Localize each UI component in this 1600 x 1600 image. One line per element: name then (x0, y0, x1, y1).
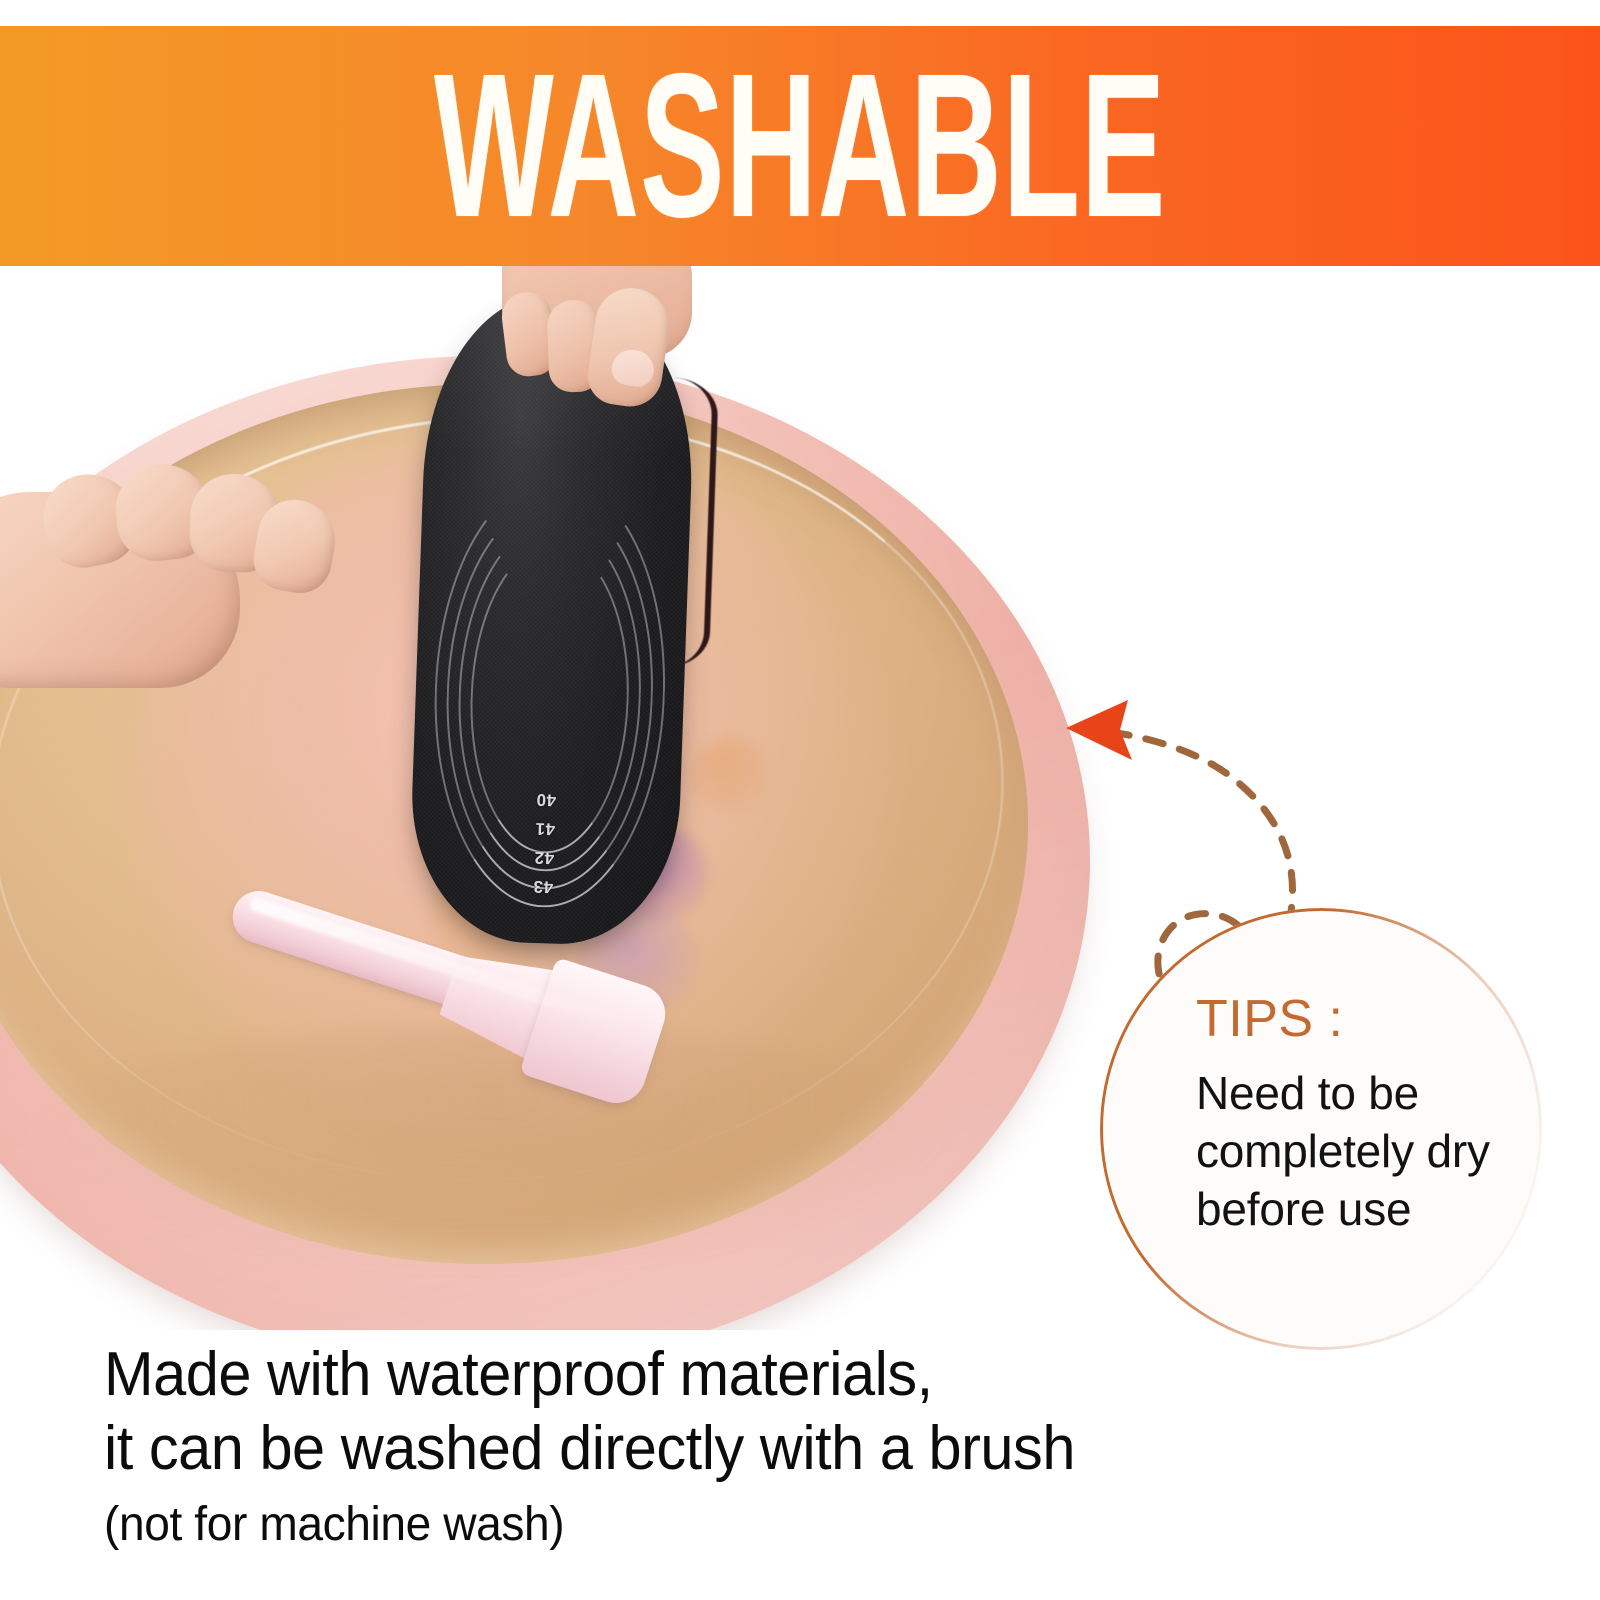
header-banner: WASHABLE (0, 26, 1600, 266)
cut-guide-line (427, 474, 672, 912)
cut-guide-line (465, 541, 634, 856)
caption-block: Made with waterproof materials, it can b… (104, 1338, 1434, 1558)
caption-line: Made with waterproof materials, (104, 1338, 1381, 1412)
caption-note: (not for machine wash) (104, 1492, 1381, 1558)
cut-guide-line (453, 518, 647, 874)
hand-holding-brush (0, 456, 330, 726)
insole-size-number: 43 (533, 878, 554, 896)
insole-size-marks: 43 42 41 40 (533, 791, 557, 896)
cut-guide-line (440, 496, 659, 893)
insole-size-number: 42 (534, 849, 555, 867)
tips-body: Need to be completely dry before use (1196, 1064, 1556, 1238)
banner-title: WASHABLE (304, 26, 1296, 266)
product-infographic: WASHABLE 43 42 41 (0, 0, 1600, 1600)
tips-line: Need to be (1196, 1064, 1556, 1122)
tips-line: before use (1196, 1180, 1556, 1238)
tips-line: completely dry (1196, 1122, 1556, 1180)
caption-line: it can be washed directly with a brush (104, 1412, 1381, 1486)
insole-size-number: 41 (535, 820, 556, 838)
hand-holding-insole (476, 266, 706, 416)
insole-size-number: 40 (536, 791, 557, 809)
tips-callout: TIPS : Need to be completely dry before … (1196, 990, 1556, 1238)
tips-label: TIPS : (1196, 990, 1556, 1048)
